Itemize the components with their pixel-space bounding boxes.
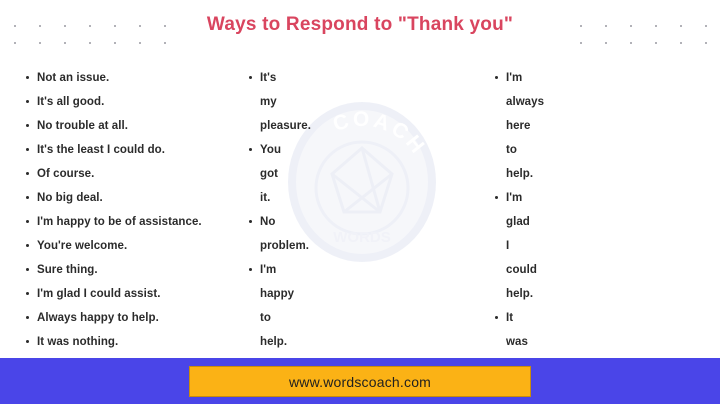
decorative-dot	[605, 42, 607, 44]
list-item: I'm always here to help.	[495, 66, 506, 186]
decorative-dot	[655, 42, 657, 44]
bullet-icon	[495, 316, 498, 319]
decorative-dot	[705, 42, 707, 44]
decorative-dot	[680, 42, 682, 44]
list-item: I'm glad I could help.	[495, 186, 506, 306]
decorative-dot	[114, 42, 116, 44]
poster-header: Ways to Respond to "Thank you"	[0, 0, 720, 58]
decorative-dot	[139, 42, 141, 44]
list-item-label: I'm always here to help.	[506, 72, 544, 180]
response-lists: Not an issue.It's all good.No trouble at…	[0, 62, 720, 354]
poster-canvas: Ways to Respond to "Thank you" COACH WOR…	[0, 0, 720, 404]
response-column-3: I'm always here to help.I'm glad I could…	[21, 62, 495, 354]
decorative-dot	[39, 42, 41, 44]
poster-footer: www.wordscoach.com	[0, 358, 720, 404]
page-title: Ways to Respond to "Thank you"	[0, 14, 720, 36]
bullet-icon	[495, 76, 498, 79]
bullet-icon	[495, 196, 498, 199]
decorative-dot	[630, 42, 632, 44]
decorative-dot	[580, 42, 582, 44]
website-button[interactable]: www.wordscoach.com	[189, 366, 531, 397]
decorative-dot	[14, 42, 16, 44]
decorative-dot	[164, 42, 166, 44]
decorative-dot	[89, 42, 91, 44]
list-item-label: I'm glad I could help.	[506, 192, 537, 300]
decorative-dot	[64, 42, 66, 44]
